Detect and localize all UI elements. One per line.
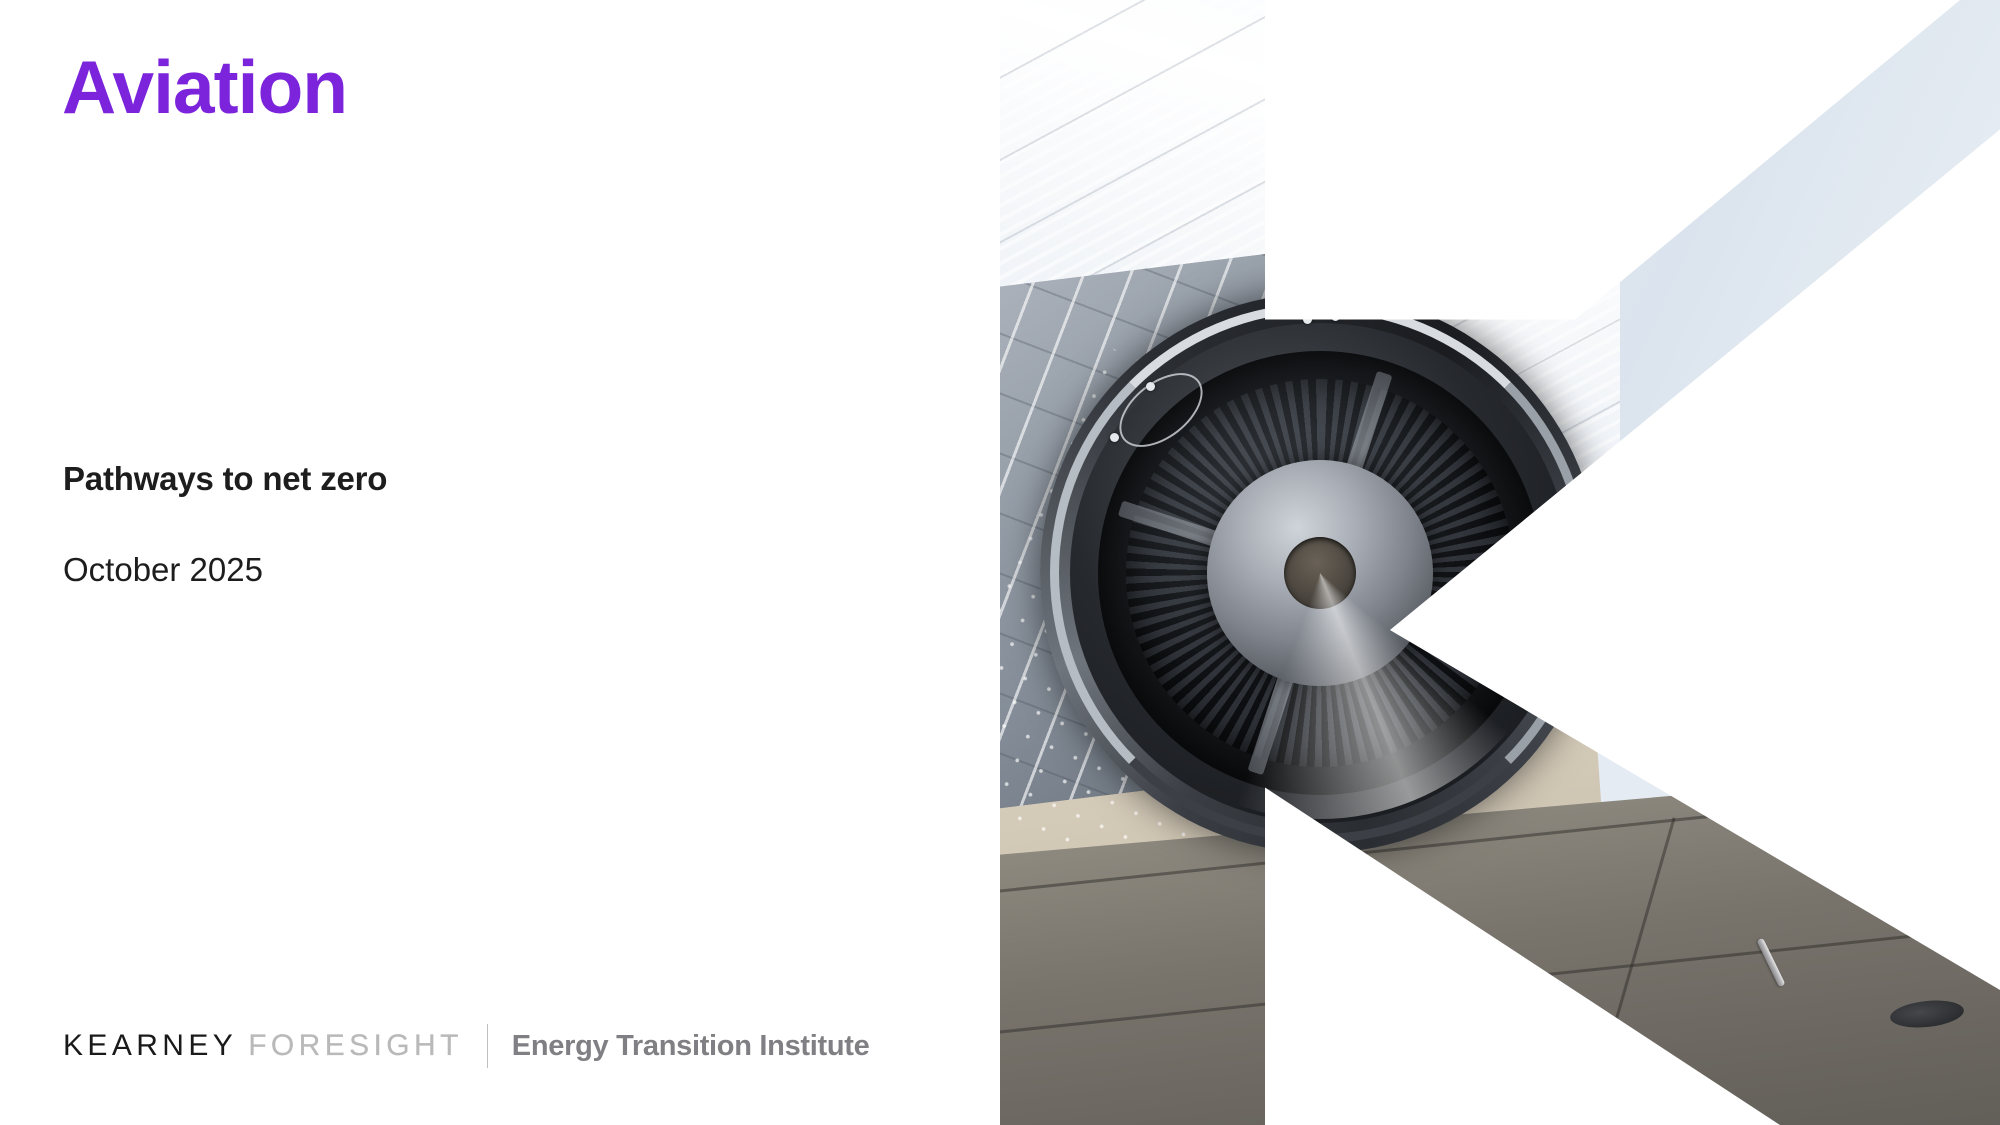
text-panel: Aviation Pathways to net zero October 20… <box>0 0 1000 1125</box>
kearney-k-logo-mask <box>1000 0 2000 1125</box>
page-title: Aviation <box>62 50 347 125</box>
energy-transition-institute-label: Energy Transition Institute <box>512 1032 870 1061</box>
spinner-cone <box>1207 460 1433 686</box>
page-subtitle: Pathways to net zero <box>63 460 387 498</box>
nacelle-fitting <box>1331 312 1340 321</box>
kearney-wordmark: KEARNEY <box>63 1031 237 1061</box>
title-slide: Aviation Pathways to net zero October 20… <box>0 0 2000 1125</box>
aviation-photo <box>1000 0 2000 1125</box>
hero-photo-region <box>1000 0 2000 1125</box>
lockup-divider <box>487 1024 488 1068</box>
brand-lockup: KEARNEY FORESIGHT Energy Transition Inst… <box>63 1026 869 1066</box>
foresight-wordmark: FORESIGHT <box>248 1031 463 1061</box>
turbofan-engine <box>1040 293 1600 853</box>
publication-date: October 2025 <box>63 551 263 589</box>
nacelle-fitting <box>1110 433 1119 442</box>
spinner-hub <box>1284 537 1356 609</box>
